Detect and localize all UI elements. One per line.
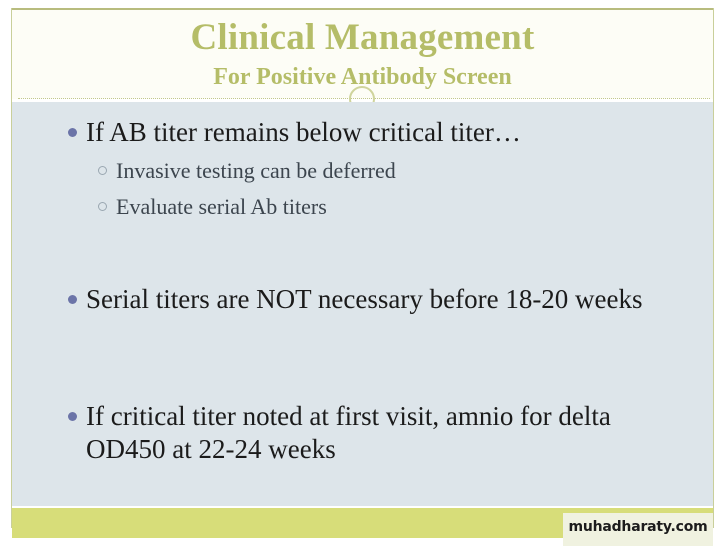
bullet-circle-icon	[98, 202, 107, 211]
list-item-label: If critical titer noted at first visit, …	[86, 401, 611, 464]
list-item-label: Evaluate serial Ab titers	[116, 194, 327, 219]
list-item-label: Serial titers are NOT necessary before 1…	[86, 284, 643, 314]
bullet-group-2: Serial titers are NOT necessary before 1…	[12, 283, 713, 316]
list-item-label: Invasive testing can be deferred	[116, 158, 396, 183]
bullet-dot-icon	[68, 128, 77, 137]
header-top-rule	[12, 8, 713, 10]
list-item: If critical titer noted at first visit, …	[12, 400, 713, 466]
right-vertical-rule	[713, 8, 714, 528]
bullet-dot-icon	[68, 295, 77, 304]
page-title: Clinical Management	[12, 17, 713, 59]
list-item: Serial titers are NOT necessary before 1…	[12, 283, 713, 316]
bullet-group-1: If AB titer remains below critical titer…	[12, 116, 713, 222]
bullet-group-3: If critical titer noted at first visit, …	[12, 400, 713, 466]
slide-canvas: Clinical Management For Positive Antibod…	[0, 0, 728, 546]
bullet-dot-icon	[68, 412, 77, 421]
list-item: Evaluate serial Ab titers	[12, 192, 713, 222]
list-item: Invasive testing can be deferred	[12, 156, 713, 186]
slide-body: If AB titer remains below critical titer…	[12, 102, 713, 506]
list-item: If AB titer remains below critical titer…	[12, 116, 713, 149]
watermark-label: muhadharaty.com	[563, 519, 713, 535]
list-item-label: If AB titer remains below critical titer…	[86, 117, 521, 147]
bullet-circle-icon	[98, 166, 107, 175]
